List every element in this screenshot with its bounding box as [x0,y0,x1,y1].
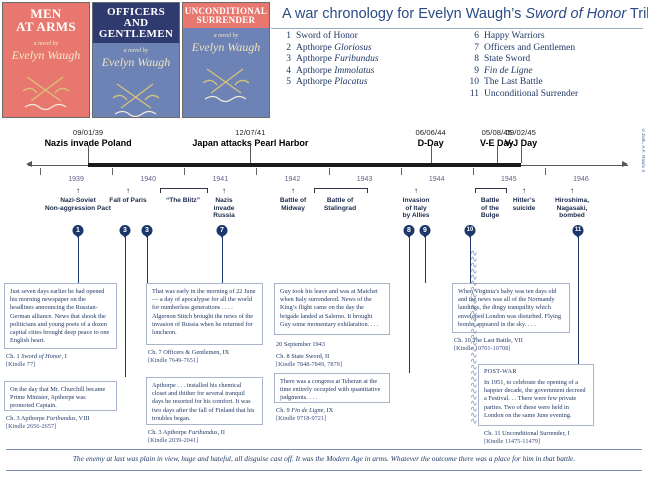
cover-title-1: MEN AT ARMS [3,3,89,36]
chapter-marker[interactable]: 9 [420,225,431,236]
chapter-number: 1 [276,31,296,43]
chapter-number: 10 [464,77,484,89]
sub-event-arrow-icon: ↑ [126,186,130,195]
major-event: 09/02/45V-J Day [505,128,538,148]
quote-box-5: Guy took his leave and was at Matchet wh… [274,283,390,335]
chapter-number: 6 [464,31,484,43]
book-cover-officers-and-gentlemen: OFFICERS AND GENTLEMEN a novel by Evelyn… [92,2,180,118]
sub-event-arrow-icon: ↑ [76,186,80,195]
chapter-list-item: 11Unconditional Surrender [464,89,578,101]
chapter-list-item: 9Fin de Ligne [464,66,578,78]
sub-event-arrow-icon: ↑ [291,186,295,195]
quote-box-6: There was a congress at Teheran at the t… [274,373,390,403]
quote-box-1: Just seven days earlier he had opened hi… [4,283,117,349]
quote-box-2: On the day that Mr. Churchill became Pri… [4,381,117,411]
year-label: 1943 [357,176,373,183]
major-event-date: 09/02/45 [505,128,538,137]
quote-citation-5: Ch. 8 State Sword, II [Kindle 7848-7849,… [276,353,394,369]
cover-lower-1: a novel by Evelyn Waugh [3,36,89,118]
marker-stem [470,236,471,283]
chapter-list-item: 4Apthorpe Immolatus [276,66,379,78]
cover-title-2: OFFICERS AND GENTLEMEN [93,3,179,43]
header-divider [271,28,643,29]
marker-stem [409,236,410,373]
chapter-list-item: 7Officers and Gentlemen [464,43,578,55]
title-suffix: Trilogy [626,6,648,22]
chapter-number: 8 [464,54,484,66]
chapter-title: Officers and Gentlemen [484,43,575,55]
sword-emblem-icon [19,71,73,118]
chapter-title: Happy Warriors [484,31,545,43]
chapter-marker[interactable]: 11 [573,225,584,236]
year-tick [112,168,113,175]
year-tick [40,168,41,175]
quote-datestamp-5: 20 September 1943 [276,341,325,348]
sub-event-label-line: bombed [538,212,606,220]
sub-event-label: Invasionof Italyby Allies [385,197,447,220]
chapter-title: The Last Battle [484,77,543,89]
year-tick [184,168,185,175]
chapter-number: 7 [464,43,484,55]
quote-citation-8: Ch. 11 Unconditional Surrender, I [Kindl… [484,430,600,446]
cover-lower-2: a novel by Evelyn Waugh [93,43,179,118]
chapter-marker[interactable]: 7 [217,225,228,236]
year-label: 1942 [285,176,301,183]
post-war-label: POST-WAR [484,368,517,375]
marker-stem [578,236,579,364]
book-covers: MEN AT ARMS a novel by Evelyn Waugh [2,2,270,118]
marker-stem [125,236,126,377]
year-label: 1941 [213,176,229,183]
marker-stem [78,236,79,283]
year-label: 1946 [573,176,589,183]
chapter-title: Apthorpe Placatus [296,77,368,89]
chapter-number: 11 [464,89,484,101]
timeline-arrow-left-icon [26,161,32,167]
chapter-title: Sword of Honor [296,31,358,43]
major-event-tick [431,146,432,163]
chapter-list-item: 8State Sword [464,54,578,66]
chapter-number: 5 [276,77,296,89]
quote-citation-4: Ch. 3 Apthorpe Furibundus, II [Kindle 20… [148,429,266,445]
quote-citation-1: Ch. 1 Sword of Honor, I [Kindle 77] [6,353,119,369]
chapter-number: 2 [276,43,296,55]
year-label: 1945 [501,176,517,183]
sub-event-label-line: Bulge [466,212,514,220]
sub-event-label: NazisinvadeRussia [199,197,249,220]
year-tick [545,168,546,175]
chapter-marker[interactable]: 10 [465,225,476,236]
major-event-tick [88,146,89,163]
sword-emblem-icon [109,78,163,118]
marker-stem [147,236,148,283]
marker-stem [222,236,223,283]
chapter-marker[interactable]: 1 [73,225,84,236]
sub-event-label-line: Russia [199,212,249,220]
sub-event-label-line: Non-aggression Pact [26,205,130,213]
chapter-list-item: 2Apthorpe Gloriosus [276,43,379,55]
copyright-credit: ©Zark, A.F. Rawls II [636,128,646,188]
sub-event-bracket-icon [314,188,368,193]
chapter-title: Unconditional Surrender [484,89,578,101]
sub-event-bracket-icon [475,188,507,193]
footer-quote: The enemy at last was plain in view, hug… [0,454,648,463]
chapter-marker[interactable]: 3 [142,225,153,236]
cover-title-3: UNCONDITIONAL SURRENDER [183,3,269,28]
quote-box-3: That was early in the morning of 22 June… [146,283,263,345]
chapter-list-item: 5Apthorpe Placatus [276,77,379,89]
footer-divider-top [6,449,642,450]
year-tick [401,168,402,175]
quote-box-4: Apthorpe . . . installed his chemical cl… [146,377,263,425]
sub-event-label-line: invade [199,205,249,213]
marker-stem [425,236,426,283]
infographic-root: MEN AT ARMS a novel by Evelyn Waugh [0,0,648,477]
sub-event-label-line: Hiroshima, [538,197,606,205]
squiggle-divider-icon: ∿∿∿∿∿∿∿∿∿∿∿∿∿∿∿∿∿∿∿∿∿∿∿∿∿∿∿∿∿ [470,250,480,424]
major-event: 06/06/44D-Day [415,128,445,148]
title-italic: Sword of Honor [525,6,626,22]
chapter-list-item: 3Apthorpe Furibundus [276,54,379,66]
major-event: 12/07/41Japan attacks Pearl Harbor [192,128,308,148]
chapter-list-item: 6Happy Warriors [464,31,578,43]
quote-citation-2: Ch. 3 Apthorpe Furibundus, VIII [Kindle … [6,415,119,431]
footer-divider-bottom [6,470,642,471]
major-event-date: 12/07/41 [192,128,308,137]
sub-event-label-line: Invasion [385,197,447,205]
book-cover-men-at-arms: MEN AT ARMS a novel by Evelyn Waugh [2,2,90,118]
chapter-number: 4 [276,66,296,78]
timeline-arrow-right-icon [622,161,628,167]
quote-citation-6: Ch. 9 Fin de Ligne, IX [Kindle 9718-9721… [276,407,394,423]
major-event-tick [521,146,522,163]
year-tick [329,168,330,175]
major-event-date: 06/06/44 [415,128,445,137]
sub-event-label-line: Battle of [305,197,375,205]
chapter-marker[interactable]: 8 [404,225,415,236]
year-tick [256,168,257,175]
year-label: 1939 [68,176,84,183]
timeline-war-span-bar [88,163,521,167]
sword-emblem-icon [199,63,253,110]
chapter-list-left: 1Sword of Honor2Apthorpe Gloriosus3Aptho… [276,31,379,89]
sub-event-arrow-icon: ↑ [222,186,226,195]
cover-lower-3: a novel by Evelyn Waugh [183,28,269,117]
sub-event-label: Battle ofStalingrad [305,197,375,212]
major-event-tick [497,146,498,163]
chapter-number: 9 [464,66,484,78]
sub-event-bracket-icon [160,188,208,193]
chapter-title: Apthorpe Gloriosus [296,43,372,55]
chapter-title: Apthorpe Furibundus [296,54,379,66]
quote-citation-3: Ch. 7 Officers & Gentlemen, IX [Kindle 7… [148,349,266,365]
year-tick [473,168,474,175]
chapter-title: Fin de Ligne [484,66,533,78]
major-event-date: 09/01/39 [45,128,132,137]
sub-event-label-line: by Allies [385,212,447,220]
major-event: 09/01/39Nazis invade Poland [45,128,132,148]
chapter-number: 3 [276,54,296,66]
title-prefix: A war chronology for Evelyn Waugh’s [282,6,525,22]
sub-event-label-line: Nazis [199,197,249,205]
chapter-list-right: 6Happy Warriors7Officers and Gentlemen8S… [464,31,578,101]
sub-event-arrow-icon: ↑ [414,186,418,195]
page-title: A war chronology for Evelyn Waugh’s Swor… [282,6,648,22]
chapter-list-item: 1Sword of Honor [276,31,379,43]
sub-event-arrow-icon: ↑ [522,186,526,195]
chapter-list-item: 10The Last Battle [464,77,578,89]
year-label: 1940 [140,176,156,183]
chapter-title: Apthorpe Immolatus [296,66,374,78]
sub-event-label: Hiroshima,Nagasaki,bombed [538,197,606,220]
sub-event-label-line: of Italy [385,205,447,213]
year-label: 1944 [429,176,445,183]
book-cover-unconditional-surrender: UNCONDITIONAL SURRENDER a novel by Evely… [182,2,270,118]
sub-event-arrow-icon: ↑ [570,186,574,195]
major-event-tick [250,146,251,163]
sub-event-label-line: Stalingrad [305,205,375,213]
sub-event-label-line: Nagasaki, [538,205,606,213]
chapter-title: State Sword [484,54,530,66]
chapter-marker[interactable]: 3 [120,225,131,236]
